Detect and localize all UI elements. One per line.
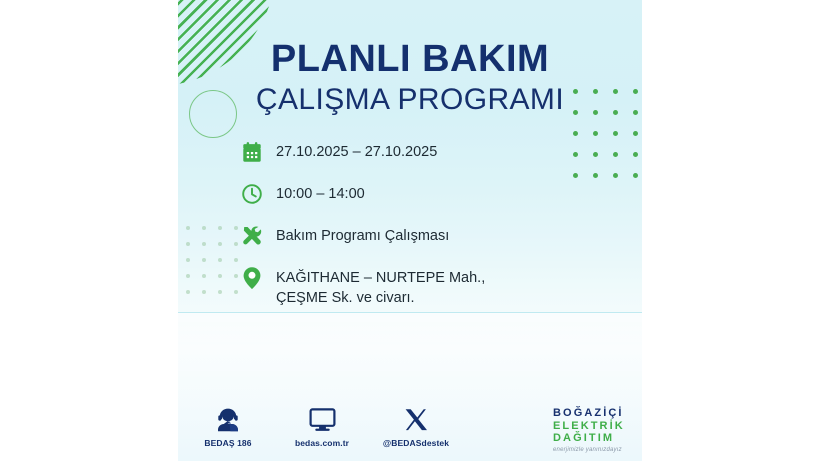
contact-website[interactable]: bedas.com.tr [286,405,358,448]
bedas-logo: BOĞAZİÇİ ELEKTRİK DAĞITIM enerjimizle ya… [553,407,625,453]
contact-social-x[interactable]: @BEDASdestek [380,405,452,448]
detail-text-date: 27.10.2025 – 27.10.2025 [276,138,437,162]
detail-row-date: 27.10.2025 – 27.10.2025 [238,138,618,166]
contact-phone[interactable]: BEDAŞ 186 [192,405,264,448]
brand-tagline: enerjimizle yanınızdayız [553,447,625,453]
page-subtitle: ÇALIŞMA PROGRAMI [178,82,642,118]
contact-social-x-label: @BEDASdestek [383,438,449,448]
footer-contact-list: BEDAŞ 186 bedas.com.tr [192,405,452,448]
brand-line-1: BOĞAZİÇİ [553,407,625,420]
page-title: PLANLI BAKIM [178,38,642,80]
contact-website-label: bedas.com.tr [295,438,349,448]
calendar-icon [238,138,266,166]
detail-row-location: KAĞITHANE – NURTEPE Mah., ÇEŞME Sk. ve c… [238,264,618,308]
location-pin-icon [238,264,266,292]
maintenance-details-list: 27.10.2025 – 27.10.2025 10:00 – 14:00 [238,138,618,322]
tools-icon [238,222,266,250]
detail-text-work-type: Bakım Programı Çalışması [276,222,449,246]
detail-row-time: 10:00 – 14:00 [238,180,618,208]
monitor-icon [309,405,336,433]
call-center-agent-icon [215,405,241,433]
detail-location-line1: KAĞITHANE – NURTEPE Mah., [276,270,485,286]
contact-phone-label: BEDAŞ 186 [204,438,251,448]
poster-heading: PLANLI BAKIM ÇALIŞMA PROGRAMI [178,38,642,118]
brand-line-2: ELEKTRİK [553,420,625,433]
screenshot-root: PLANLI BAKIM ÇALIŞMA PROGRAMI [0,0,820,461]
brand-line-3: DAĞITIM [553,432,625,445]
detail-location-line2: ÇEŞME Sk. ve civarı. [276,288,485,308]
detail-row-work-type: Bakım Programı Çalışması [238,222,618,250]
detail-text-time: 10:00 – 14:00 [276,180,365,204]
clock-icon [238,180,266,208]
detail-text-location: KAĞITHANE – NURTEPE Mah., ÇEŞME Sk. ve c… [276,264,485,308]
dot-grid-decoration-left [186,226,238,294]
x-twitter-icon [404,405,428,433]
maintenance-notice-poster: PLANLI BAKIM ÇALIŞMA PROGRAMI [178,0,642,461]
